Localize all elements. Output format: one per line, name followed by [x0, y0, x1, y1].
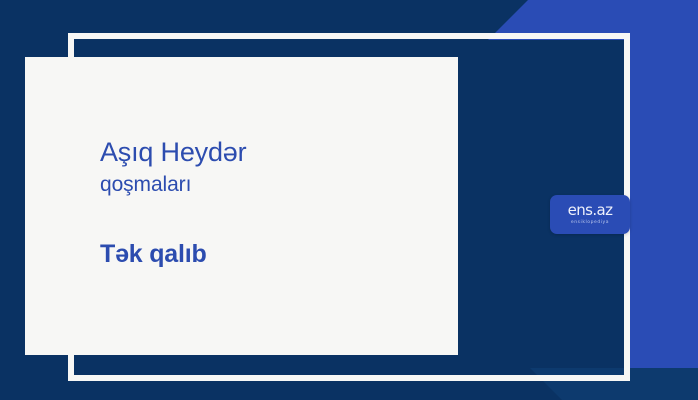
logo-wordmark: ens.az [568, 203, 613, 218]
author-title: Aşıq Heydər [100, 137, 434, 169]
quote-card-slide: Aşıq Heydər qoşmaları Tək qalıb ens.az e… [0, 0, 698, 400]
work-title: Tək qalıb [100, 240, 434, 269]
background-bottom-navy-strip [0, 380, 560, 400]
genre-subtitle: qoşmaları [100, 172, 434, 198]
background-right-accent-panel [628, 0, 698, 400]
content-card-text-block: Aşıq Heydər qoşmaları Tək qalıb [100, 137, 434, 269]
content-card: Aşıq Heydər qoşmaları Tək qalıb [25, 57, 458, 355]
ens-az-logo-badge[interactable]: ens.az ensiklopediya [550, 195, 630, 234]
logo-tagline: ensiklopediya [571, 221, 609, 226]
